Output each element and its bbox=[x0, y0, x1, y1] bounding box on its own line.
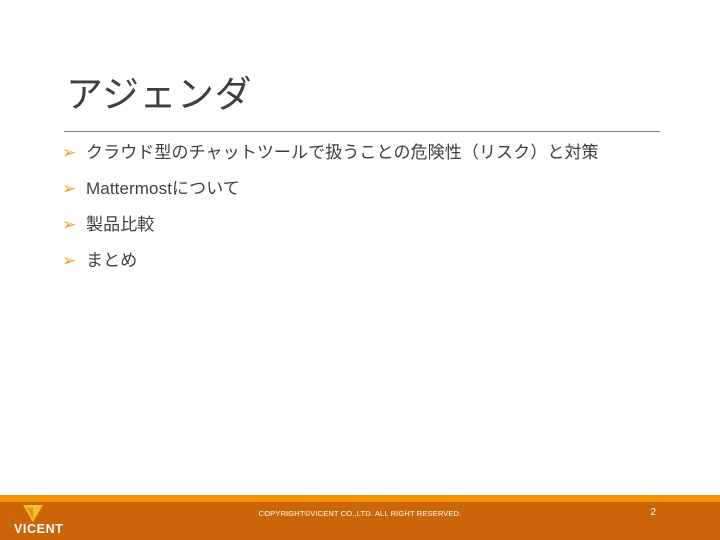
copyright-text: COPYRIGHT©VICENT CO.,LTD. ALL RIGHT RESE… bbox=[0, 509, 720, 518]
list-item-label: クラウド型のチャットツールで扱うことの危険性（リスク）と対策 bbox=[86, 144, 599, 163]
arrow-bullet-icon: ➢ bbox=[62, 145, 86, 162]
slide-footer: VICENT COPYRIGHT©VICENT CO.,LTD. ALL RIG… bbox=[0, 495, 720, 540]
list-item-label: まとめ bbox=[86, 252, 137, 271]
footer-accent-strip bbox=[0, 495, 720, 502]
company-logo-text: VICENT bbox=[14, 522, 63, 536]
list-item-label: Mattermostについて bbox=[86, 180, 240, 199]
arrow-bullet-icon: ➢ bbox=[62, 253, 86, 270]
page-number: 2 bbox=[650, 507, 656, 518]
page-title: アジェンダ bbox=[66, 74, 252, 117]
agenda-list: ➢ クラウド型のチャットツールで扱うことの危険性（リスク）と対策 ➢ Matte… bbox=[62, 144, 672, 288]
slide-canvas: アジェンダ ➢ クラウド型のチャットツールで扱うことの危険性（リスク）と対策 ➢… bbox=[0, 0, 720, 540]
list-item: ➢ Mattermostについて bbox=[62, 180, 672, 216]
list-item: ➢ 製品比較 bbox=[62, 216, 672, 252]
footer-background-band bbox=[0, 502, 720, 540]
list-item: ➢ クラウド型のチャットツールで扱うことの危険性（リスク）と対策 bbox=[62, 144, 672, 180]
list-item-label: 製品比較 bbox=[86, 216, 154, 235]
title-divider bbox=[64, 131, 660, 132]
list-item: ➢ まとめ bbox=[62, 252, 672, 288]
arrow-bullet-icon: ➢ bbox=[62, 217, 86, 234]
arrow-bullet-icon: ➢ bbox=[62, 181, 86, 198]
